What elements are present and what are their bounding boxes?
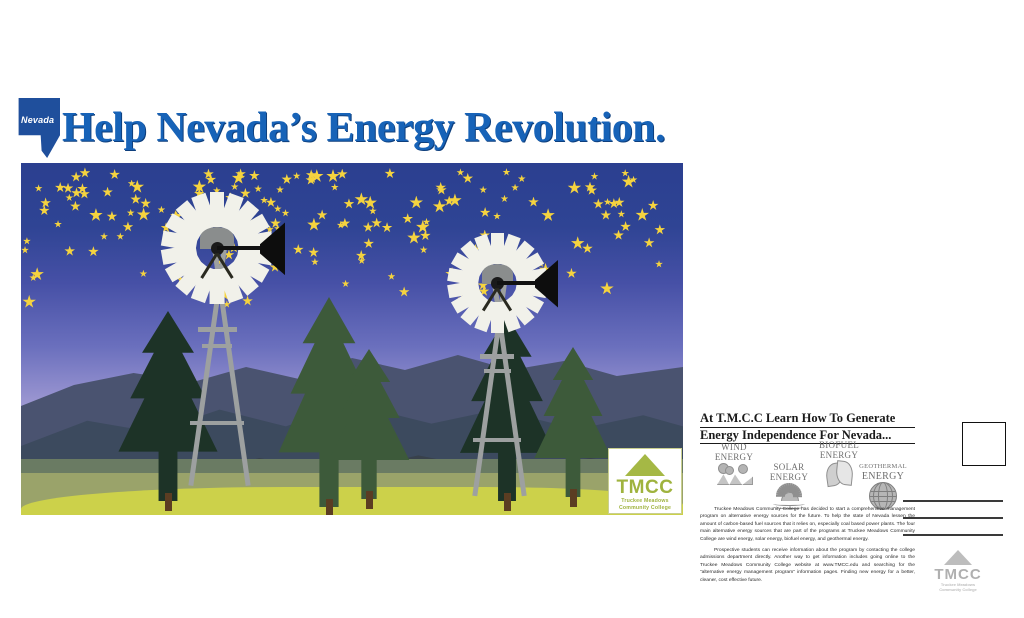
tmcc-name-line2: Community College bbox=[923, 587, 993, 592]
sun-over-water-icon bbox=[772, 483, 806, 507]
windmill-tail-rod bbox=[497, 281, 537, 285]
biofuel-energy-label: BIOFUEL ENERGY bbox=[808, 441, 870, 460]
nevada-badge-label: Nevada bbox=[21, 115, 54, 125]
postcard-panel: At T.M.C.C Learn How To Generate Energy … bbox=[695, 405, 1020, 615]
postcard-body-text: Truckee Meadows Community College has de… bbox=[700, 506, 915, 588]
poster-panel: Nevada Help Nevada’s Energy Revolution. … bbox=[0, 0, 700, 440]
body-paragraph-2: Prospective students can receive informa… bbox=[700, 547, 915, 584]
address-line-2[interactable] bbox=[903, 517, 1003, 519]
address-line-1[interactable] bbox=[903, 500, 1003, 502]
globe-parallel bbox=[870, 491, 896, 492]
energy-type-wind: WIND ENERGY bbox=[703, 443, 765, 485]
windmill-platform bbox=[480, 354, 515, 359]
tmcc-name-line1: Truckee Meadows bbox=[609, 498, 681, 504]
windmill-cross-brace bbox=[484, 369, 511, 373]
windmill bbox=[21, 163, 683, 515]
windmill-cross-brace bbox=[473, 438, 521, 442]
body-paragraph-1: Truckee Meadows Community College has de… bbox=[700, 506, 915, 543]
tmcc-name-line2: Community College bbox=[609, 505, 681, 511]
sun-ray bbox=[793, 495, 802, 497]
poster-tmcc-logo: TMCC Truckee Meadows Community College bbox=[608, 448, 682, 514]
wind-turbine-hills-icon bbox=[717, 463, 751, 485]
nevada-state-shape: Nevada bbox=[14, 98, 60, 158]
globe-parallel bbox=[870, 496, 896, 497]
wind-hills bbox=[717, 473, 753, 485]
nevada-state-badge: Nevada bbox=[14, 98, 60, 158]
headline-line-1: At T.M.C.C Learn How To Generate bbox=[700, 411, 915, 428]
globe-parallel bbox=[870, 501, 896, 502]
poster-artwork bbox=[21, 163, 683, 515]
stamp-box[interactable] bbox=[962, 422, 1006, 466]
geothermal-energy-label: GEOTHERMAL ENERGY bbox=[847, 461, 919, 481]
tmcc-acronym: TMCC bbox=[923, 567, 993, 582]
energy-type-geothermal: GEOTHERMAL ENERGY bbox=[847, 461, 919, 510]
wind-energy-label: WIND ENERGY bbox=[703, 443, 765, 462]
tmcc-acronym: TMCC bbox=[609, 478, 681, 497]
wind-puff bbox=[738, 464, 748, 474]
tmcc-mountain-icon bbox=[944, 550, 972, 565]
tmcc-mountain-icon bbox=[625, 454, 665, 476]
poster-title: Help Nevada’s Energy Revolution. bbox=[62, 104, 665, 152]
postcard-headline: At T.M.C.C Learn How To Generate Energy … bbox=[700, 411, 915, 444]
address-line-3[interactable] bbox=[903, 534, 1003, 536]
wind-puff bbox=[725, 466, 734, 475]
postcard-tmcc-logo: TMCC Truckee Meadows Community College bbox=[923, 550, 993, 592]
